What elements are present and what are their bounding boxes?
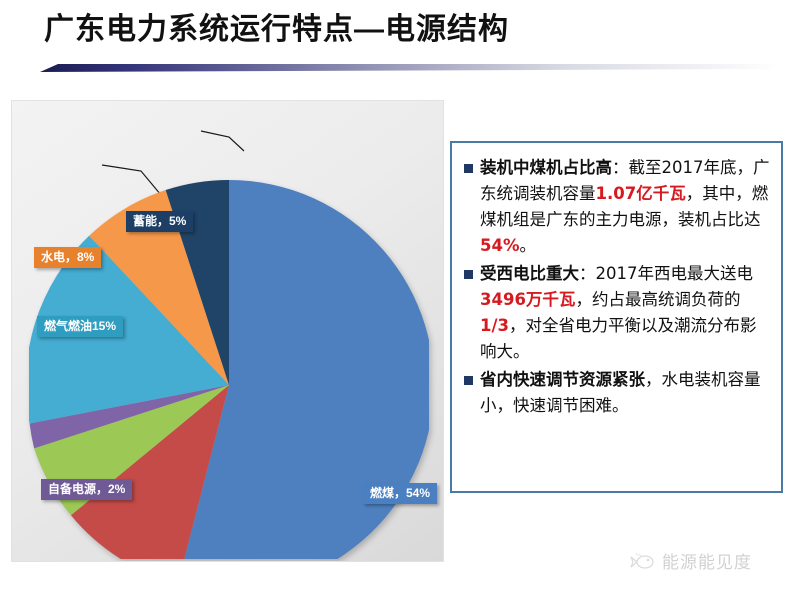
square-bullet-icon bbox=[464, 164, 473, 173]
pie-label-xuneng: 蓄能，5% bbox=[126, 211, 193, 232]
commentary-panel: 装机中煤机占比高：截至2017年底，广东统调装机容量1.07亿千瓦，其中，燃煤机… bbox=[450, 141, 783, 493]
bullet-item-1: 装机中煤机占比高：截至2017年底，广东统调装机容量1.07亿千瓦，其中，燃煤机… bbox=[462, 155, 771, 259]
pie-label-zibeidianyuan: 自备电源，2% bbox=[41, 479, 132, 500]
title-divider bbox=[40, 64, 780, 72]
bullet-1-text: 装机中煤机占比高：截至2017年底，广东统调装机容量1.07亿千瓦，其中，燃煤机… bbox=[480, 155, 771, 259]
watermark-text: 能源能见度 bbox=[662, 548, 752, 573]
pie-label-ranmei: 燃煤，54% bbox=[363, 483, 437, 504]
bullet-item-3: 省内快速调节资源紧张，水电装机容量小，快速调节困难。 bbox=[462, 367, 771, 419]
bullet-3-text: 省内快速调节资源紧张，水电装机容量小，快速调节困难。 bbox=[480, 367, 771, 419]
fish-icon bbox=[630, 551, 656, 571]
pie-label-shuidian: 水电，8% bbox=[34, 247, 101, 268]
page-title: 广东电力系统运行特点—电源结构 bbox=[44, 10, 509, 50]
square-bullet-icon bbox=[464, 376, 473, 385]
pie-chart-panel: 蓄能，5% 水电，8% 燃气燃油15% 自备电源，2% 新能源6% 核电10% … bbox=[11, 100, 444, 562]
watermark: 能源能见度 bbox=[630, 548, 752, 573]
bullet-item-2: 受西电比重大：2017年西电最大送电3496万千瓦，约占最高统调负荷的1/3，对… bbox=[462, 261, 771, 365]
square-bullet-icon bbox=[464, 270, 473, 279]
bullet-2-text: 受西电比重大：2017年西电最大送电3496万千瓦，约占最高统调负荷的1/3，对… bbox=[480, 261, 771, 365]
pie-label-ranqiranyou: 燃气燃油15% bbox=[37, 316, 123, 337]
